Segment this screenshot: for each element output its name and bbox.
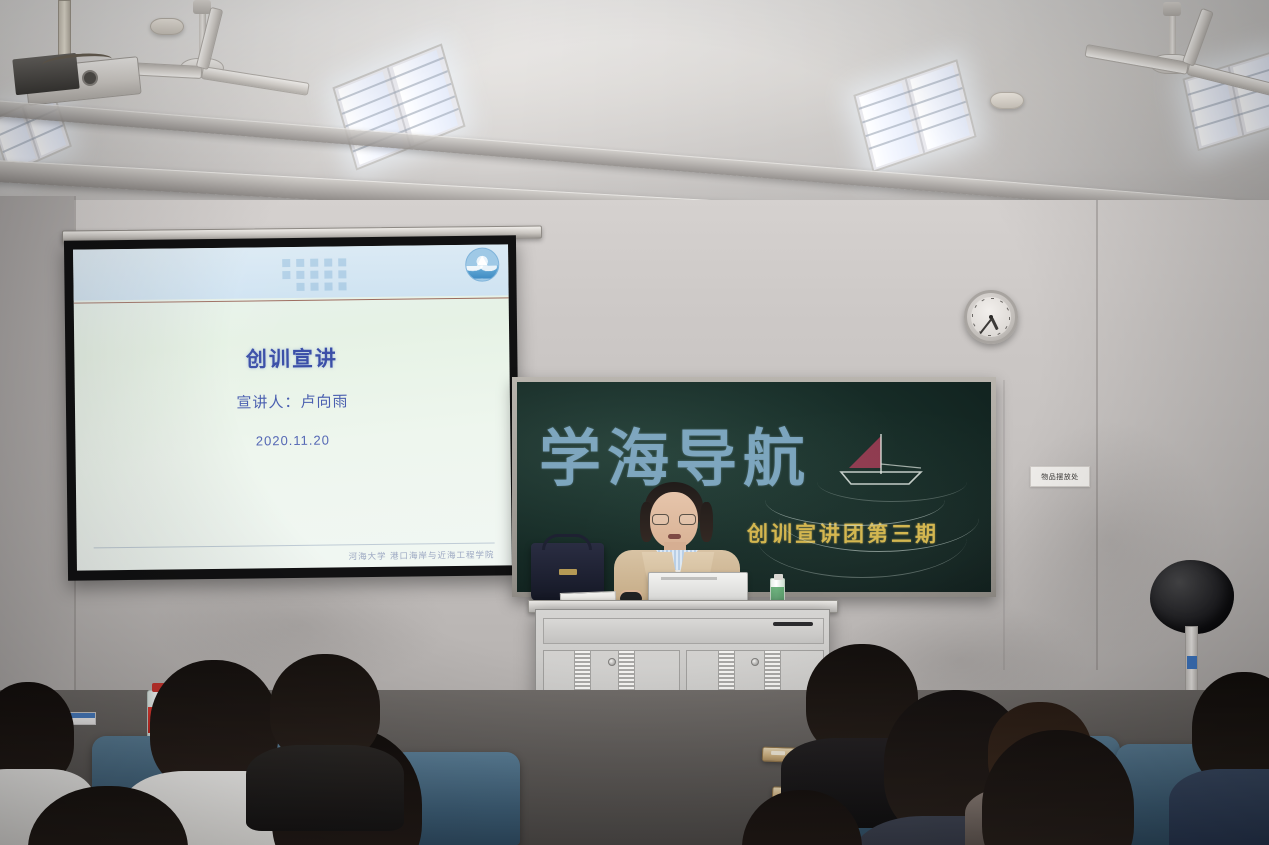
projection-screen: 创训宣讲 宣讲人：卢向雨 2020.11.20 河海大学 港口海岸与近海工程学院 — [64, 235, 520, 580]
wall-notice-sign: 物品摆放处 — [1030, 466, 1090, 487]
slide-date: 2020.11.20 — [75, 431, 510, 451]
cabinet-lock-left[interactable] — [608, 658, 616, 666]
slide-footer-text: 河海大学 港口海岸与近海工程学院 — [348, 549, 494, 563]
smoke-detector-right — [990, 92, 1024, 109]
ceiling-projector — [12, 52, 142, 102]
hohai-university-logo-icon — [465, 248, 499, 282]
slide-title: 创训宣讲 — [74, 341, 509, 376]
presentation-slide: 创训宣讲 宣讲人：卢向雨 2020.11.20 河海大学 港口海岸与近海工程学院 — [73, 244, 512, 570]
cabinet-lock-right[interactable] — [751, 658, 759, 666]
slide-decorative-squares — [282, 252, 413, 292]
ceiling-fan-left — [122, 0, 282, 120]
classroom-scene: 物品摆放处 — [0, 0, 1269, 845]
projector-lens — [82, 70, 98, 86]
slide-presenter-line: 宣讲人：卢向雨 — [75, 389, 510, 415]
drawer-handle[interactable] — [773, 622, 813, 626]
student-right-5 — [1192, 672, 1269, 788]
ceiling-fan-right — [1110, 2, 1269, 122]
wall-sign-text: 物品摆放处 — [1041, 472, 1079, 482]
student-front-left-4 — [28, 786, 188, 845]
left-wall — [0, 196, 74, 691]
clock-minute-hand — [979, 318, 992, 334]
student-front-left-1 — [0, 682, 74, 786]
wall-seam-right — [1096, 200, 1098, 670]
student-right-6 — [742, 790, 862, 845]
student-right-4 — [982, 730, 1134, 845]
student-back-left-1 — [270, 654, 380, 762]
glasses-icon — [652, 514, 697, 526]
wall-seam-mid — [1003, 380, 1005, 670]
black-plastic-bag — [1150, 560, 1234, 634]
wall-clock — [964, 290, 1018, 344]
